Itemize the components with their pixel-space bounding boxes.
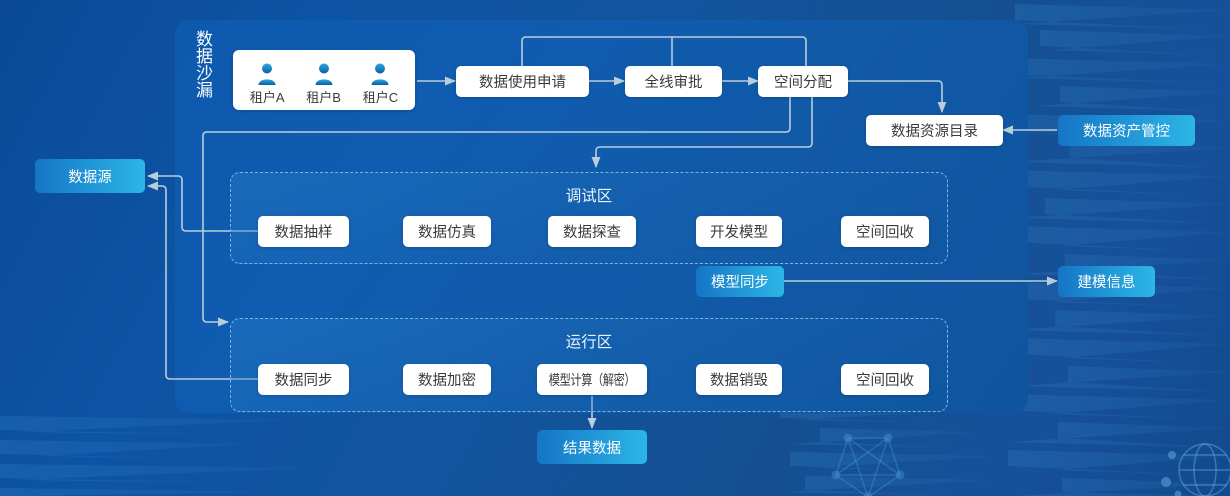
globe-icon <box>1161 444 1230 496</box>
debug-item-data-sampling[interactable]: 数据抽样 <box>258 216 349 247</box>
data-source-box[interactable]: 数据源 <box>35 159 145 193</box>
tenant-item[interactable]: 租户B <box>306 62 341 106</box>
person-icon <box>257 62 277 86</box>
diagram-canvas: 数据沙漏 租户A 租户B 租户C 数据使 <box>0 0 1230 496</box>
tenant-item[interactable]: 租户A <box>250 62 285 106</box>
runtime-item-model-compute-label: 模型计算（解密） <box>549 370 635 390</box>
tenant-label: 租户A <box>250 87 285 106</box>
pentagon-network-icon <box>832 434 905 496</box>
flow-box-space-allocation[interactable]: 空间分配 <box>758 66 848 97</box>
runtime-item-data-encryption[interactable]: 数据加密 <box>403 364 491 395</box>
runtime-item-model-compute[interactable]: 模型计算（解密） <box>537 364 647 395</box>
runtime-item-data-destroy[interactable]: 数据销毁 <box>696 364 782 395</box>
debug-item-data-simulation[interactable]: 数据仿真 <box>403 216 491 247</box>
tenant-item[interactable]: 租户C <box>363 62 398 106</box>
model-sync-box[interactable]: 模型同步 <box>696 266 784 297</box>
flow-box-data-request[interactable]: 数据使用申请 <box>456 66 589 97</box>
model-info-box[interactable]: 建模信息 <box>1058 266 1155 297</box>
sandbox-title: 数据沙漏 <box>186 30 212 98</box>
person-icon <box>314 62 334 86</box>
debug-zone-title: 调试区 <box>231 184 947 206</box>
data-resource-catalog-box[interactable]: 数据资源目录 <box>866 115 1003 146</box>
tenant-label: 租户B <box>306 87 341 106</box>
tenant-group[interactable]: 租户A 租户B 租户C <box>233 50 415 110</box>
person-icon <box>370 62 390 86</box>
debug-item-develop-model[interactable]: 开发模型 <box>696 216 782 247</box>
debug-item-space-recycle[interactable]: 空间回收 <box>841 216 929 247</box>
runtime-item-data-sync[interactable]: 数据同步 <box>258 364 349 395</box>
tenant-label: 租户C <box>363 87 398 106</box>
runtime-zone-title: 运行区 <box>231 330 947 352</box>
data-asset-control-box[interactable]: 数据资产管控 <box>1058 115 1195 146</box>
debug-item-data-exploration[interactable]: 数据探查 <box>548 216 636 247</box>
result-data-box[interactable]: 结果数据 <box>537 430 647 464</box>
runtime-item-space-recycle[interactable]: 空间回收 <box>841 364 929 395</box>
flow-box-approval[interactable]: 全线审批 <box>625 66 722 97</box>
